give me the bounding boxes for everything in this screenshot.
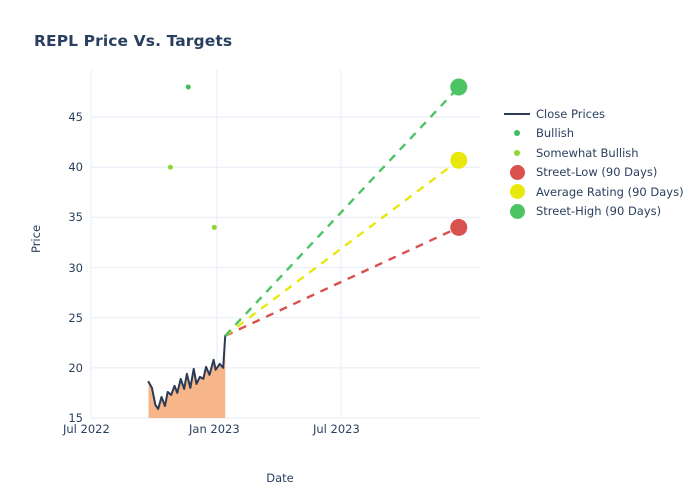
target-marker[interactable] [450,79,467,96]
target-projection-line [225,87,459,336]
rating-point[interactable] [168,165,173,170]
legend-item-label: Close Prices [534,107,605,121]
legend-item[interactable]: Street-High (90 Days) [500,202,700,222]
target-projection-line [225,227,459,335]
legend-item-label: Average Rating (90 Days) [534,185,684,199]
legend-dot-icon [500,163,534,182]
target-marker[interactable] [450,152,467,169]
rating-point[interactable] [186,85,191,90]
legend-item[interactable]: Bullish [500,124,700,144]
legend-item[interactable]: Close Prices [500,104,700,124]
plot-area [0,0,700,500]
legend-dot-swatch [510,165,525,180]
legend-line-icon [500,104,534,123]
legend-dot-swatch [514,150,520,156]
chart-container: REPL Price Vs. Targets Price Date 152025… [0,0,700,500]
legend-line-swatch [504,113,530,115]
legend-item[interactable]: Average Rating (90 Days) [500,182,700,202]
legend-item-label: Street-Low (90 Days) [534,165,657,179]
legend-dot-swatch [510,204,525,219]
rating-point[interactable] [212,225,217,230]
legend-dot-swatch [514,130,520,136]
target-marker[interactable] [450,219,467,236]
legend-item[interactable]: Somewhat Bullish [500,143,700,163]
target-projection-line [225,160,459,336]
legend-item-label: Somewhat Bullish [534,146,639,160]
legend-dot-icon [500,124,534,143]
legend-dot-icon [500,202,534,221]
legend-dot-icon [500,143,534,162]
legend-item[interactable]: Street-Low (90 Days) [500,163,700,183]
legend-dot-icon [500,182,534,201]
legend-item-label: Bullish [534,126,574,140]
legend-dot-swatch [510,184,525,199]
legend-item-label: Street-High (90 Days) [534,204,661,218]
chart-legend: Close PricesBullishSomewhat BullishStree… [500,104,700,221]
